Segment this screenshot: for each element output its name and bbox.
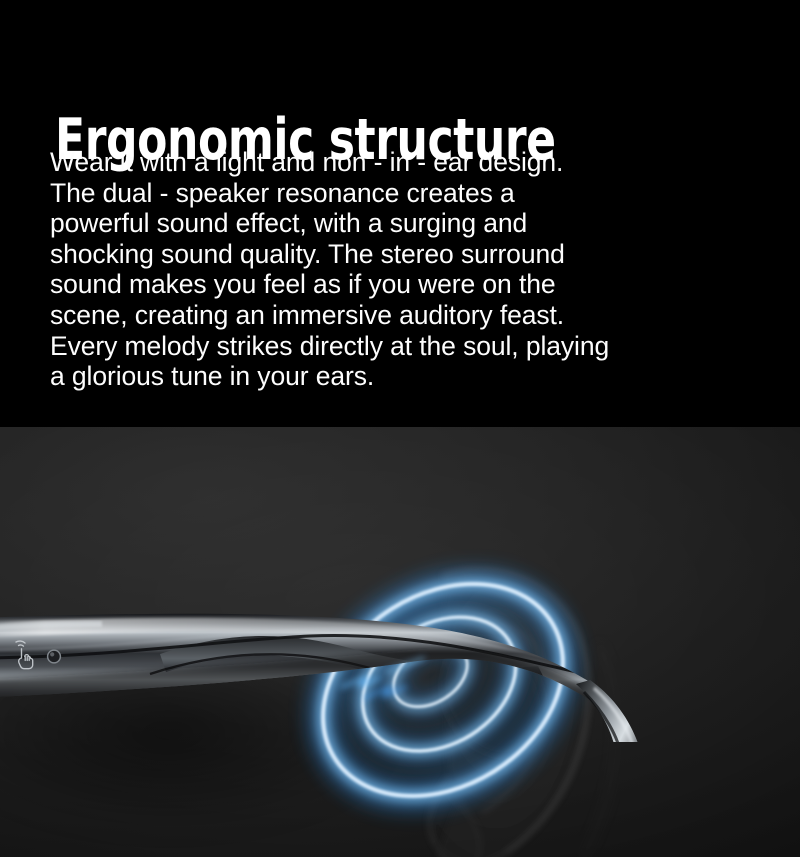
- description-paragraph: Wear it with a light and non - in - ear …: [50, 147, 750, 392]
- sound-ring-outer: [284, 541, 603, 839]
- description-line: powerful sound effect, with a surging an…: [50, 208, 750, 239]
- description-line: Every melody strikes directly at the sou…: [50, 331, 750, 362]
- product-photo: [0, 427, 800, 857]
- text-panel: Ergonomic structure Wear it with a light…: [0, 0, 800, 427]
- description-line: a glorious tune in your ears.: [50, 361, 750, 392]
- touch-gesture-icon[interactable]: [16, 641, 33, 669]
- ergonomic-structure-banner: Ergonomic structure Wear it with a light…: [0, 0, 800, 857]
- ear-silhouette: [330, 547, 660, 857]
- blue-accent-chevrons: [342, 658, 424, 698]
- round-button-icon[interactable]: [48, 650, 61, 663]
- description-line: sound makes you feel as if you were on t…: [50, 269, 750, 300]
- description-line: scene, creating an immersive auditory fe…: [50, 300, 750, 331]
- sound-ring-middle: [338, 590, 541, 779]
- description-line: The dual - speaker resonance creates a: [50, 178, 750, 209]
- sound-ring-inner: [382, 631, 478, 719]
- description-line: Wear it with a light and non - in - ear …: [50, 147, 750, 178]
- sound-wave-rings: [278, 525, 608, 855]
- description-line: shocking sound quality. The stereo surro…: [50, 239, 750, 270]
- touch-control-group[interactable]: [8, 635, 78, 671]
- surface-shadow: [0, 637, 480, 857]
- glasses-temple-arm: [0, 522, 670, 742]
- photo-vignette: [0, 427, 800, 857]
- ear-hook-tip: [576, 680, 643, 742]
